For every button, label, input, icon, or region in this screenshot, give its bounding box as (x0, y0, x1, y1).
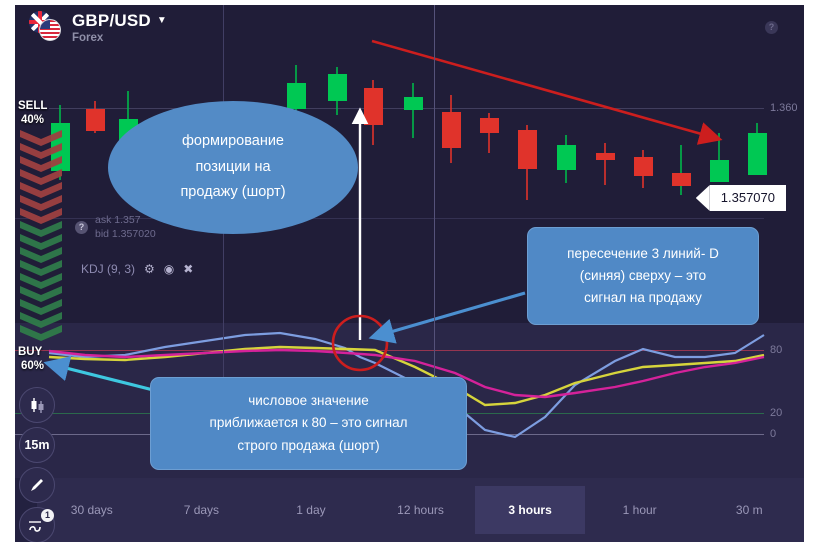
quote-info: ? ask 1.357 bid 1.357020 (75, 213, 156, 241)
annotation-line: продажу (шорт) (180, 180, 285, 205)
kdj-level-0-label: 0 (770, 428, 776, 440)
chart-tools: 15m 1 (19, 387, 63, 542)
annotation-box-right-text: пересечение 3 линий- D (синяя) сверху – … (567, 243, 719, 310)
annotation-line: числовое значение (210, 390, 408, 412)
close-icon[interactable]: ✖ (183, 262, 193, 276)
eye-icon[interactable]: ◉ (164, 262, 174, 276)
current-price-value: 1.357070 (710, 185, 786, 211)
instrument-row[interactable]: GBP/USD ▼ (72, 11, 167, 31)
sell-label: SELL (18, 100, 47, 112)
annotation-line: приближается к 80 – это сигнал (210, 412, 408, 434)
sentiment-chevrons (20, 130, 62, 342)
kdj-level-80-label: 80 (770, 344, 782, 356)
gear-icon[interactable]: ⚙ (144, 262, 155, 276)
sell-percent: 40% (21, 114, 44, 126)
annotation-line: (синяя) сверху – это (567, 265, 719, 287)
timeframe-label: 15m (24, 438, 49, 452)
annotation-ellipse-text: формирование позиции на продажу (шорт) (180, 129, 285, 205)
price-axis-label: 1.360 (770, 102, 798, 114)
timeframe-option-7-days[interactable]: 7 days (147, 486, 257, 534)
annotation-box-bottom: числовое значение приближается к 80 – эт… (150, 377, 467, 470)
page-title: GBP/USD (72, 11, 151, 31)
us-flag-icon (39, 19, 61, 41)
indicator-label-row: KDJ (9, 3) ⚙ ◉ ✖ (81, 262, 193, 276)
current-price-tag: 1.357070 (696, 185, 786, 211)
trading-platform-screenshot: 1.360 80 20 0 11:00:00 13:00:00 (0, 0, 819, 551)
indicator-name: KDJ (9, 3) (81, 262, 135, 276)
annotation-ellipse: формирование позиции на продажу (шорт) (108, 101, 358, 234)
info-icon[interactable]: ? (765, 21, 778, 34)
annotation-line: строго продажа (шорт) (210, 435, 408, 457)
annotation-line: позиции на (180, 155, 285, 180)
price-tag-notch (696, 185, 710, 211)
bid-value: bid 1.357020 (95, 227, 156, 241)
timeframe-option-3-hours[interactable]: 3 hours (475, 486, 585, 534)
annotation-box-right: пересечение 3 линий- D (синяя) сверху – … (527, 227, 759, 325)
price-gridline (49, 108, 764, 109)
timeframe-option-30-m[interactable]: 30 m (694, 486, 804, 534)
pencil-icon (28, 476, 46, 494)
annotation-line: пересечение 3 линий- D (567, 243, 719, 265)
timeframe-selector[interactable]: 30 days7 days1 day12 hours3 hours1 hour3… (37, 486, 804, 534)
annotation-line: формирование (180, 129, 285, 154)
market-sentiment-bar: SELL 40% BUY 60% (15, 100, 67, 372)
instrument-category: Forex (72, 32, 167, 44)
draw-button[interactable] (19, 467, 55, 503)
chart-type-button[interactable] (19, 387, 55, 423)
kdj-level-20-label: 20 (770, 407, 782, 419)
chart-frame: 1.360 80 20 0 11:00:00 13:00:00 (15, 5, 804, 542)
annotation-line: сигнал на продажу (567, 287, 719, 309)
help-icon[interactable]: ? (75, 221, 88, 234)
timeframe-option-12-hours[interactable]: 12 hours (366, 486, 476, 534)
indicator-count-badge: 1 (41, 509, 54, 522)
indicators-button[interactable]: 1 (19, 507, 55, 542)
kdj-level-80-line (15, 350, 764, 351)
instrument-name-block: GBP/USD ▼ Forex (72, 11, 167, 44)
timeframe-button[interactable]: 15m (19, 427, 55, 463)
instrument-header[interactable]: GBP/USD ▼ Forex (29, 11, 167, 44)
buy-label: BUY (18, 346, 42, 358)
ask-bid-text: ask 1.357 bid 1.357020 (95, 213, 156, 241)
buy-chevron (20, 325, 62, 342)
candlestick-icon (28, 396, 46, 414)
buy-percent: 60% (21, 360, 44, 372)
timeframe-option-1-hour[interactable]: 1 hour (585, 486, 695, 534)
us-flag-canton (40, 20, 50, 29)
chevron-down-icon[interactable]: ▼ (157, 16, 167, 26)
timeframe-option-1-day[interactable]: 1 day (256, 486, 366, 534)
flag-pair (29, 11, 63, 41)
annotation-box-bottom-text: числовое значение приближается к 80 – эт… (210, 390, 408, 457)
